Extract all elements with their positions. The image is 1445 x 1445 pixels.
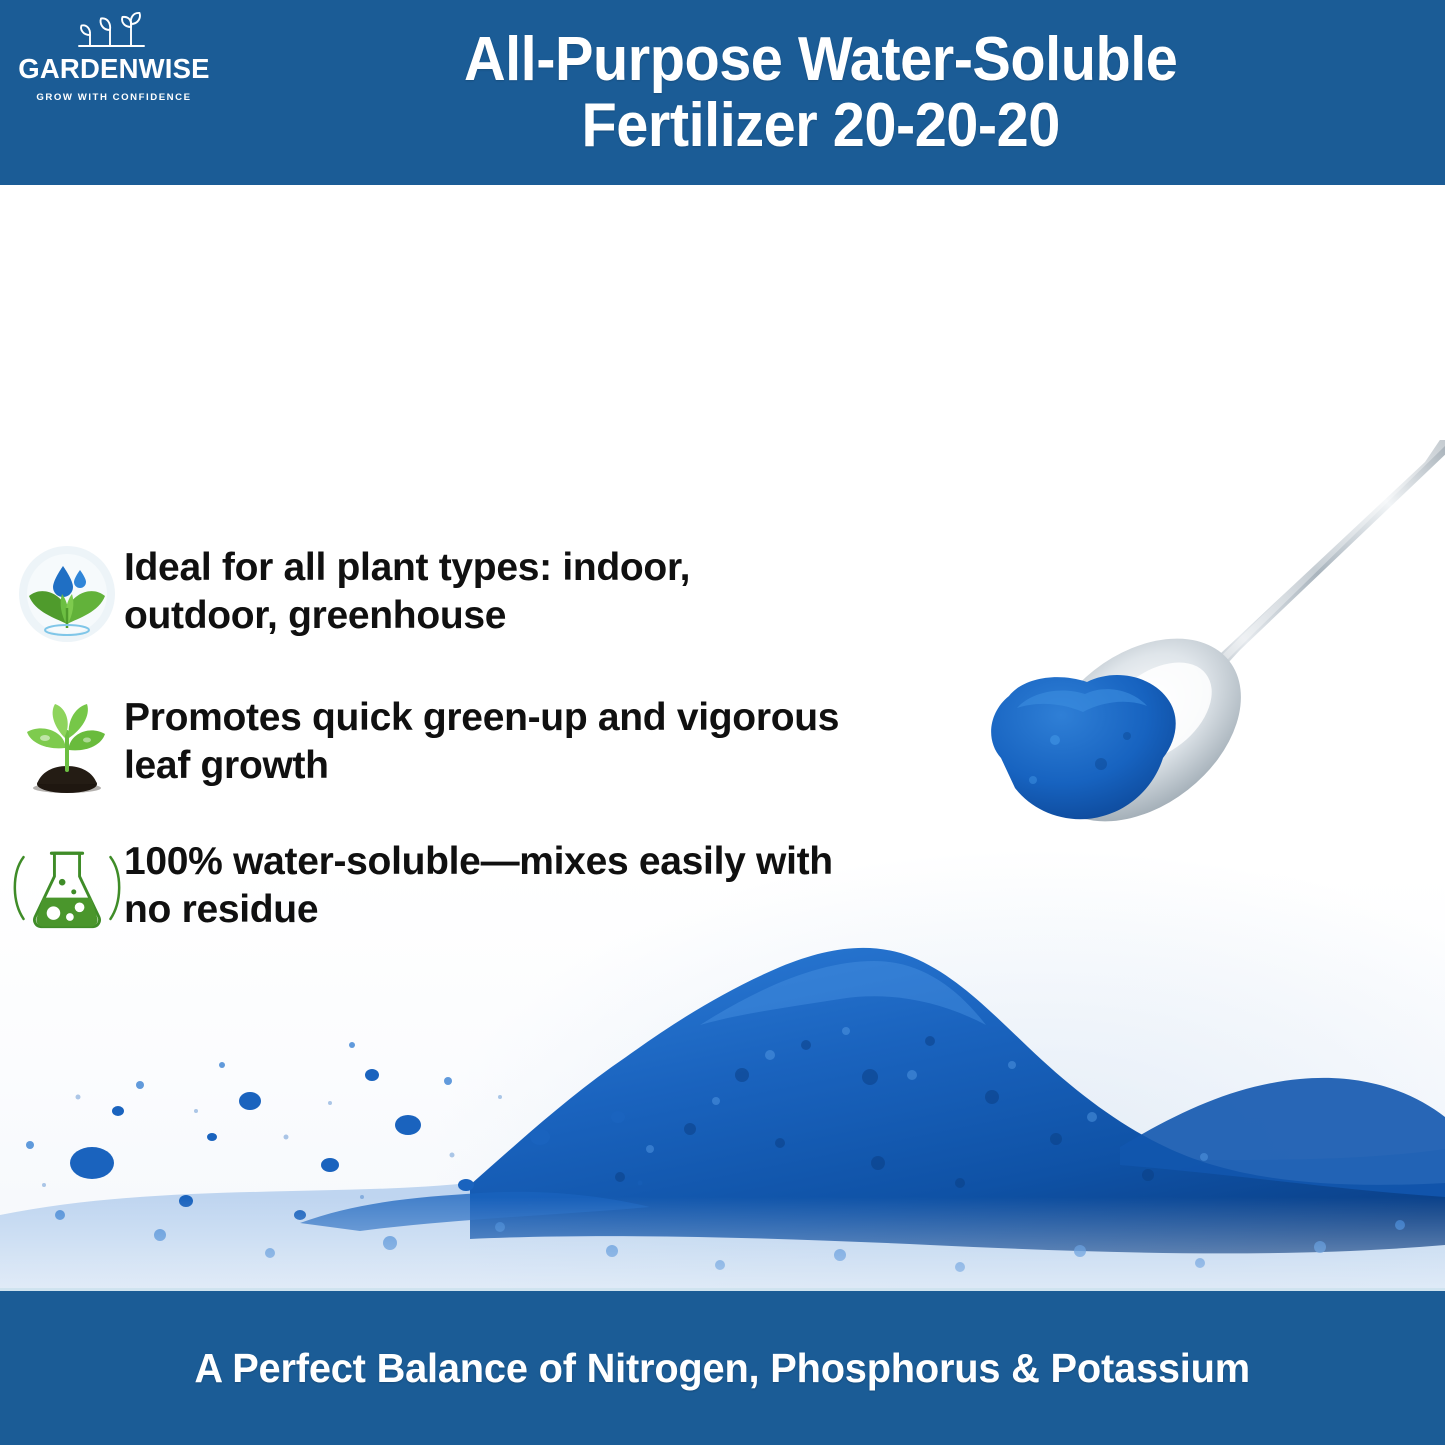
- feature-text: 100% water-soluble—mixes easily with no …: [124, 834, 854, 934]
- sprout-row-icon: [66, 8, 162, 54]
- brand-tagline: GROW WITH CONFIDENCE: [36, 92, 191, 103]
- page-title-line2: Fertilizer 20-20-20: [276, 93, 1365, 159]
- leaf-water-drop-icon: [0, 540, 124, 652]
- feature-item: Promotes quick green-up and vigorous lea…: [0, 690, 960, 802]
- main-content: Ideal for all plant types: indoor, outdo…: [0, 185, 1445, 1291]
- brand-name: GARDENWISE: [18, 55, 209, 83]
- feature-text: Promotes quick green-up and vigorous lea…: [124, 690, 854, 790]
- footer-banner: A Perfect Balance of Nitrogen, Phosphoru…: [0, 1291, 1445, 1445]
- feature-item: Ideal for all plant types: indoor, outdo…: [0, 540, 960, 652]
- feature-item: 100% water-soluble—mixes easily with no …: [0, 834, 960, 946]
- footer-text: A Perfect Balance of Nitrogen, Phosphoru…: [195, 1345, 1251, 1392]
- feature-text: Ideal for all plant types: indoor, outdo…: [124, 540, 854, 640]
- brand-logo: GARDENWISE GROW WITH CONFIDENCE: [0, 0, 228, 185]
- seedling-soil-icon: [0, 690, 124, 802]
- page-title: All-Purpose Water-Soluble Fertilizer 20-…: [271, 27, 1403, 158]
- flask-solubility-icon: [0, 834, 124, 946]
- page-title-line1: All-Purpose Water-Soluble: [464, 25, 1177, 94]
- feature-list: Ideal for all plant types: indoor, outdo…: [0, 540, 960, 978]
- header-banner: GARDENWISE GROW WITH CONFIDENCE All-Purp…: [0, 0, 1445, 185]
